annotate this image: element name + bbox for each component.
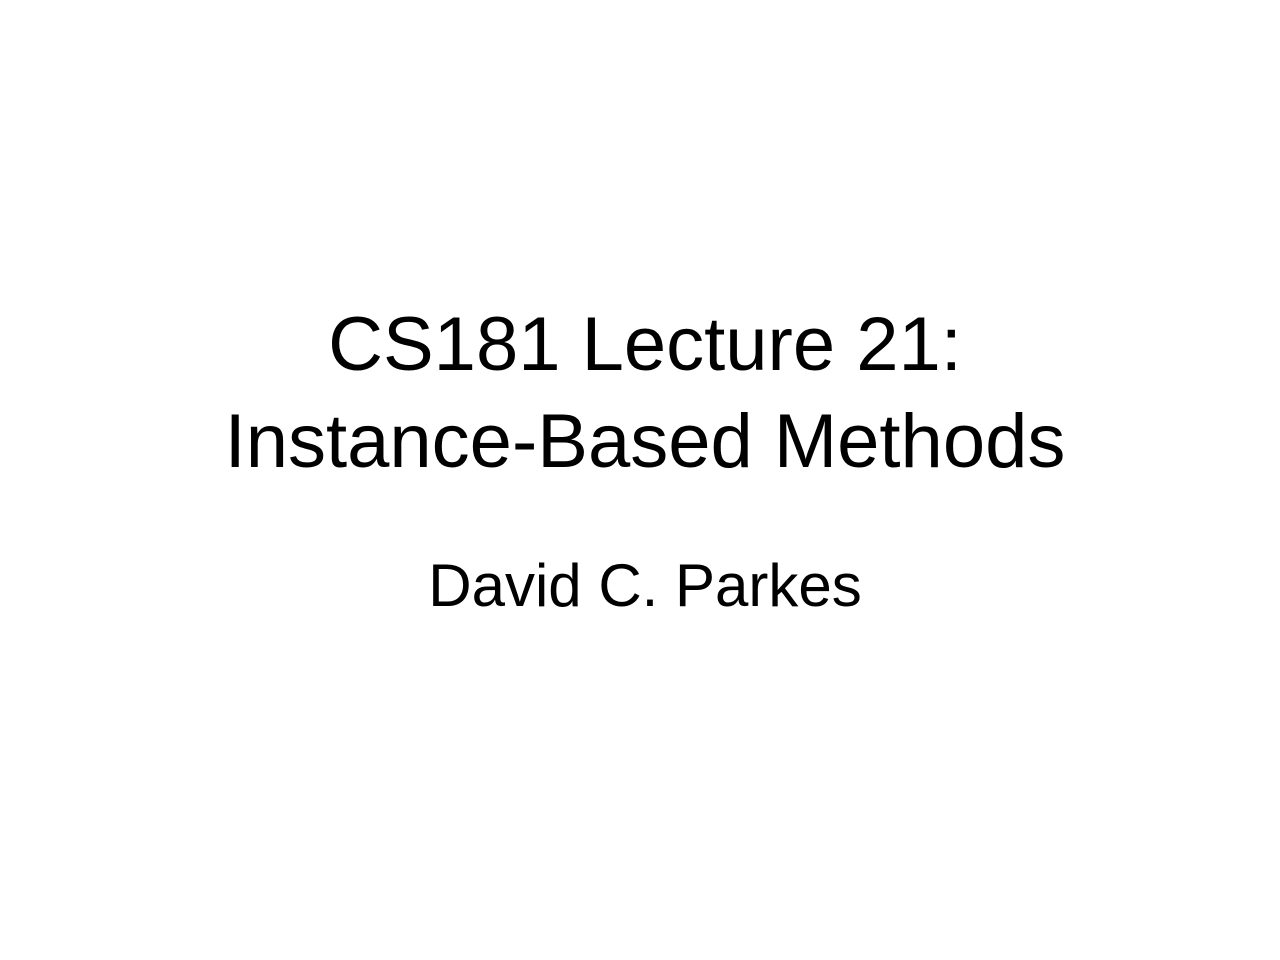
presentation-slide: CS181 Lecture 21: Instance-Based Methods… (0, 0, 1280, 960)
slide-subtitle: David C. Parkes (90, 548, 1200, 624)
slide-title-line-1: CS181 Lecture 21: (90, 296, 1200, 393)
slide-title-line-2: Instance-Based Methods (90, 393, 1200, 490)
slide-title: CS181 Lecture 21: Instance-Based Methods (90, 296, 1200, 490)
slide-subtitle-author: David C. Parkes (90, 548, 1200, 624)
slide-content-area: CS181 Lecture 21: Instance-Based Methods… (0, 0, 1280, 960)
